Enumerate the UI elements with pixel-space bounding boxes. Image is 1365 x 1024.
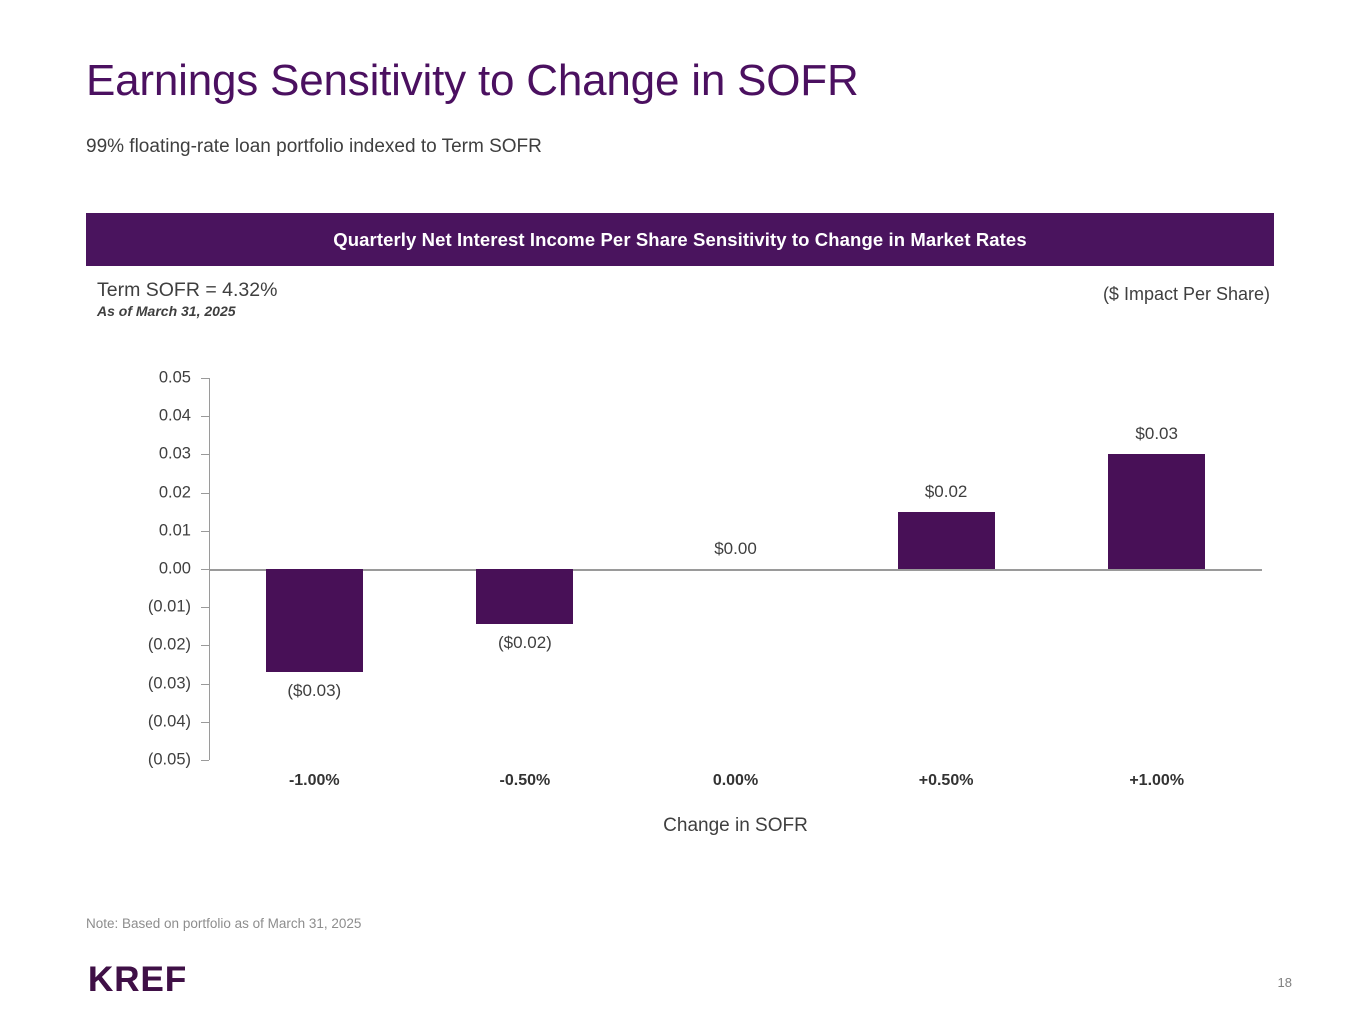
y-tick-mark [201, 607, 209, 608]
y-tick-mark [201, 493, 209, 494]
bar [1108, 454, 1205, 569]
footnote: Note: Based on portfolio as of March 31,… [86, 916, 361, 931]
zero-baseline [209, 569, 1262, 571]
x-category-label: +1.00% [1129, 772, 1184, 790]
as-of-date-annotation: As of March 31, 2025 [97, 303, 236, 319]
y-tick-label: 0.02 [159, 483, 191, 502]
kref-logo: KREF [88, 960, 187, 1000]
y-axis-tick-labels: 0.050.040.030.020.010.00(0.01)(0.02)(0.0… [9, 378, 191, 760]
y-tick-mark [201, 569, 209, 570]
x-category-label: -1.00% [289, 772, 340, 790]
x-category-label: 0.00% [713, 772, 758, 790]
chart-header-title: Quarterly Net Interest Income Per Share … [333, 229, 1026, 251]
page-title: Earnings Sensitivity to Change in SOFR [86, 52, 859, 110]
y-tick-label: 0.01 [159, 521, 191, 540]
y-tick-label: 0.04 [159, 407, 191, 426]
y-tick-label: 0.03 [159, 445, 191, 464]
y-tick-mark [201, 416, 209, 417]
y-tick-label: (0.04) [148, 712, 191, 731]
y-tick-mark [201, 378, 209, 379]
units-annotation: ($ Impact Per Share) [1103, 284, 1270, 305]
bar-value-label: $0.02 [925, 482, 968, 502]
bar [476, 569, 573, 624]
y-tick-mark [201, 722, 209, 723]
y-tick-mark [201, 760, 209, 761]
bar-value-label: ($0.02) [498, 633, 552, 653]
y-tick-label: (0.02) [148, 636, 191, 655]
x-category-label: +0.50% [919, 772, 974, 790]
y-tick-mark [201, 684, 209, 685]
chart-header-bar: Quarterly Net Interest Income Per Share … [86, 213, 1274, 266]
bar-chart-plot-area: 0.050.040.030.020.010.00(0.01)(0.02)(0.0… [209, 378, 1262, 760]
y-tick-mark [201, 454, 209, 455]
page-number: 18 [1278, 975, 1292, 990]
x-category-label: -0.50% [500, 772, 551, 790]
page-subtitle: 99% floating-rate loan portfolio indexed… [86, 136, 542, 158]
y-tick-mark [201, 531, 209, 532]
bar [898, 512, 995, 569]
x-axis-title: Change in SOFR [209, 815, 1262, 837]
y-tick-label: (0.03) [148, 674, 191, 693]
bar-value-label: ($0.03) [287, 681, 341, 701]
y-tick-label: 0.05 [159, 369, 191, 388]
y-tick-label: (0.05) [148, 751, 191, 770]
bar [266, 569, 363, 672]
y-tick-label: (0.01) [148, 598, 191, 617]
y-tick-label: 0.00 [159, 560, 191, 579]
bar-value-label: $0.03 [1135, 424, 1178, 444]
y-tick-mark [201, 645, 209, 646]
sofr-rate-annotation: Term SOFR = 4.32% [97, 279, 277, 302]
bar-value-label: $0.00 [714, 539, 757, 559]
slide: Earnings Sensitivity to Change in SOFR 9… [0, 0, 1365, 1024]
